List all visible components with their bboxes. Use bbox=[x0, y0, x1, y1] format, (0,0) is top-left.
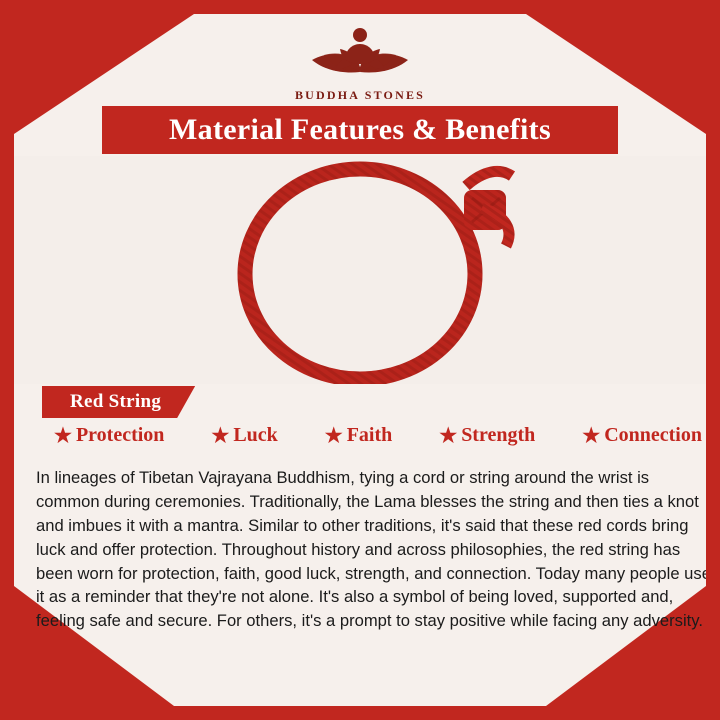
frame-edge-right bbox=[706, 0, 720, 720]
brand-logo: BUDDHA STONES bbox=[14, 22, 706, 103]
content-panel: BUDDHA STONES Material Features & Benefi… bbox=[14, 14, 706, 706]
benefit-label: Faith bbox=[347, 424, 393, 447]
product-image bbox=[14, 156, 706, 384]
benefit-label: Protection bbox=[76, 424, 165, 447]
benefit-item-strength: ★ Strength bbox=[439, 424, 535, 447]
star-icon: ★ bbox=[211, 426, 229, 446]
star-icon: ★ bbox=[439, 426, 457, 446]
benefits-row: ★ Protection ★ Luck ★ Faith ★ Strength ★… bbox=[54, 424, 702, 447]
benefit-item-faith: ★ Faith bbox=[325, 424, 393, 447]
star-icon: ★ bbox=[582, 426, 600, 446]
page-title: Material Features & Benefits bbox=[169, 113, 551, 147]
benefit-label: Luck bbox=[233, 424, 277, 447]
infographic-page: BUDDHA STONES Material Features & Benefi… bbox=[0, 0, 720, 720]
lotus-meditation-icon bbox=[300, 22, 420, 86]
material-label: Red String bbox=[70, 391, 161, 413]
material-label-ribbon: Red String bbox=[42, 386, 195, 418]
benefit-label: Connection bbox=[604, 424, 702, 447]
frame-edge-left bbox=[0, 0, 14, 720]
star-icon: ★ bbox=[325, 426, 343, 446]
star-icon: ★ bbox=[54, 426, 72, 446]
benefit-item-luck: ★ Luck bbox=[211, 424, 277, 447]
benefit-item-connection: ★ Connection bbox=[582, 424, 702, 447]
section-title-band: Material Features & Benefits bbox=[102, 106, 618, 154]
benefit-label: Strength bbox=[461, 424, 535, 447]
red-string-bracelet-illustration bbox=[14, 156, 706, 384]
benefit-item-protection: ★ Protection bbox=[54, 424, 164, 447]
brand-name: BUDDHA STONES bbox=[14, 88, 706, 103]
description-text: In lineages of Tibetan Vajrayana Buddhis… bbox=[36, 466, 706, 633]
